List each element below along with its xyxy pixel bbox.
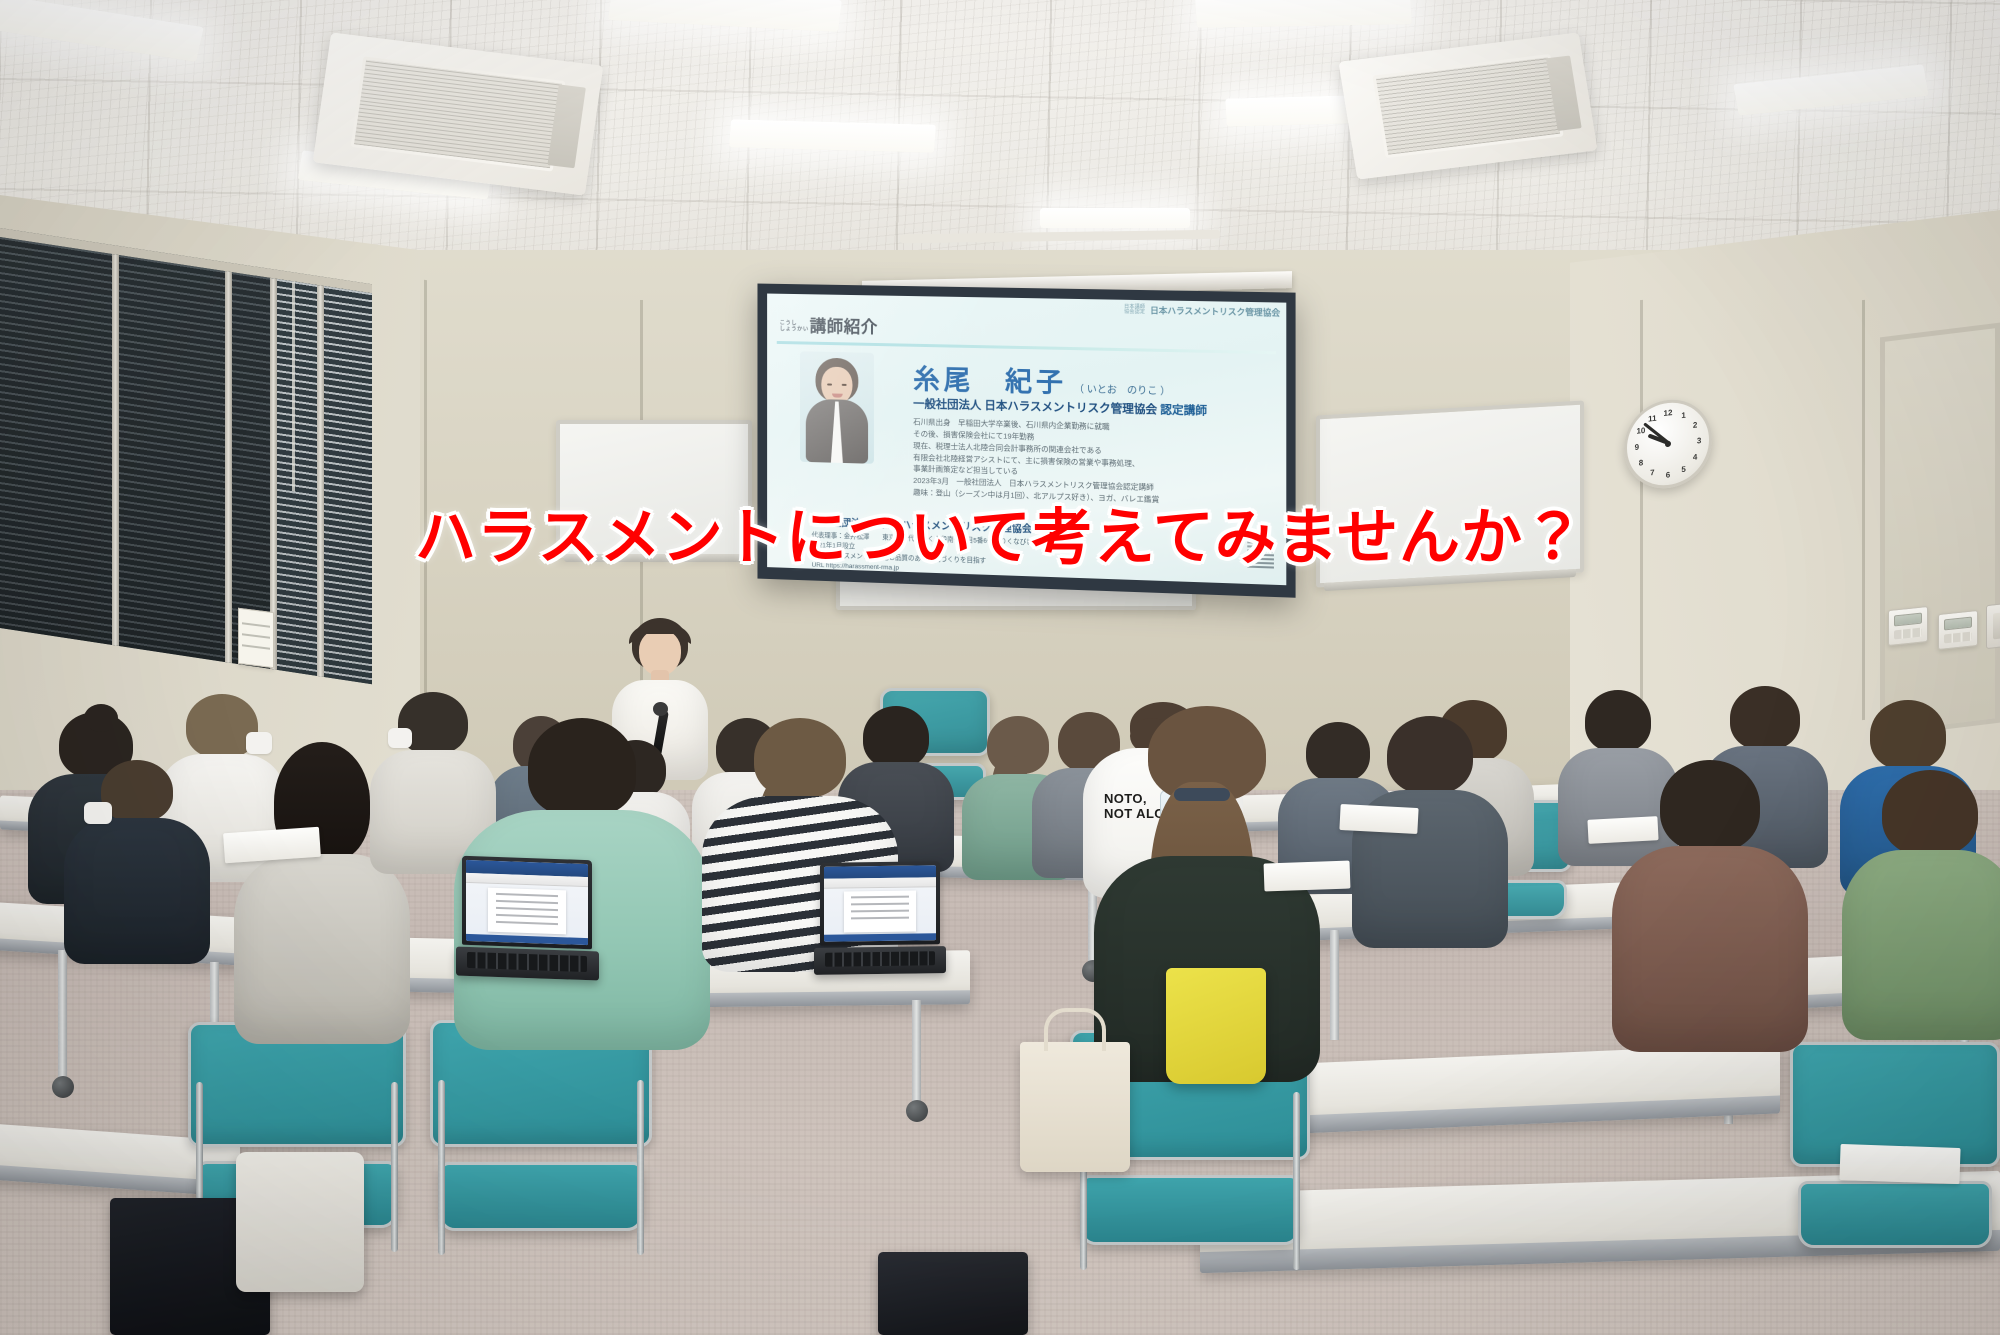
window-blind-lit bbox=[324, 286, 372, 684]
chair-frame-leg bbox=[1293, 1092, 1300, 1270]
left-window-wall bbox=[0, 228, 372, 684]
attendee-hair bbox=[528, 718, 636, 816]
clock-number: 5 bbox=[1681, 465, 1685, 474]
handout-paper[interactable] bbox=[1587, 816, 1658, 844]
handout-paper[interactable] bbox=[1264, 861, 1351, 892]
chair-frame-leg bbox=[391, 1082, 398, 1252]
tote-bag bbox=[1020, 1042, 1130, 1172]
attendee-hair bbox=[1585, 690, 1651, 752]
speaker-portrait bbox=[800, 351, 874, 464]
laptop-ribbon bbox=[824, 877, 936, 888]
attendee-hair bbox=[1882, 770, 1978, 856]
laptop-keyboard[interactable] bbox=[825, 951, 936, 967]
laptop[interactable] bbox=[820, 861, 940, 975]
chair-seat bbox=[1798, 1181, 1991, 1248]
window-mullion bbox=[112, 254, 119, 646]
slide-logo-mark: 日本講師協会認定 bbox=[1124, 305, 1145, 316]
attendee-hair bbox=[1387, 716, 1473, 794]
seminar-room-photo: 12 1 2 3 4 5 6 7 8 9 10 11 日本講師協会認定 日本ハラ… bbox=[0, 0, 2000, 1335]
attendee bbox=[1610, 760, 1810, 1050]
chair-frame-leg bbox=[637, 1080, 644, 1255]
clock-number: 1 bbox=[1681, 411, 1685, 420]
chair bbox=[430, 1020, 652, 1265]
portrait-mouth bbox=[832, 393, 843, 397]
plastic-bag-yellow bbox=[1166, 968, 1266, 1084]
ceiling-light bbox=[1195, 0, 1412, 28]
attendee-hair bbox=[1870, 700, 1946, 770]
attendee-torso bbox=[1842, 850, 2000, 1040]
panel-buttons[interactable] bbox=[1894, 628, 1923, 640]
handbag-black bbox=[878, 1252, 1028, 1335]
slide-title-text: 講師紹介 bbox=[810, 317, 878, 337]
laptop-document bbox=[844, 890, 916, 932]
face-mask bbox=[388, 728, 412, 748]
chair-seat bbox=[439, 1162, 643, 1231]
attendee-hair-bun bbox=[84, 704, 118, 732]
desk-leg bbox=[912, 1000, 921, 1110]
clock-number: 4 bbox=[1693, 452, 1697, 461]
desk-leg bbox=[58, 950, 67, 1080]
handout-paper[interactable] bbox=[1339, 804, 1418, 834]
clock-number: 7 bbox=[1650, 468, 1654, 477]
clock-number: 12 bbox=[1664, 408, 1673, 418]
laptop-statusbar bbox=[824, 933, 936, 941]
ceiling-light bbox=[729, 119, 936, 152]
laptop-keyboard[interactable] bbox=[467, 952, 587, 972]
attendee bbox=[62, 760, 212, 960]
laptop-document bbox=[488, 887, 566, 934]
window-blind bbox=[0, 237, 112, 645]
wall-notice bbox=[238, 608, 274, 668]
laptop-base bbox=[456, 947, 599, 981]
laptop-lid bbox=[820, 861, 940, 946]
speaker-name: 糸尾 紀子 bbox=[913, 358, 1067, 400]
laptop[interactable] bbox=[462, 856, 592, 981]
laptop-base bbox=[814, 946, 946, 975]
ceiling-light bbox=[1040, 208, 1190, 228]
clock-number: 9 bbox=[1635, 443, 1639, 452]
panel-buttons[interactable] bbox=[1944, 632, 1973, 644]
blind-cord bbox=[292, 281, 295, 491]
laptop-screen bbox=[466, 860, 588, 945]
slide-title: こうししょうかい講師紹介 bbox=[780, 311, 878, 338]
backpack bbox=[236, 1152, 364, 1292]
face-mask bbox=[84, 802, 112, 824]
laptop-statusbar bbox=[466, 933, 588, 945]
light-switch[interactable] bbox=[1986, 603, 2000, 649]
clock-center bbox=[1665, 441, 1671, 448]
speaker-name-kana: （ いとお のりこ ） bbox=[1074, 380, 1170, 397]
portrait-eye-left bbox=[827, 383, 832, 385]
attendee-torso bbox=[64, 818, 210, 964]
ac-control-panel[interactable] bbox=[1938, 610, 1978, 650]
handout-paper[interactable] bbox=[1839, 1144, 1960, 1184]
clock-number: 2 bbox=[1693, 421, 1697, 430]
attendee-hair bbox=[1730, 686, 1800, 750]
overlay-caption: ハラスメントについて考えてみませんか？ bbox=[0, 487, 2000, 576]
slide-logo-text: 日本ハラスメントリスク管理協会 bbox=[1150, 304, 1280, 319]
ac-control-panel[interactable] bbox=[1888, 606, 1928, 646]
panel-lcd bbox=[1944, 616, 1973, 631]
attendee-hair bbox=[1660, 760, 1760, 852]
hair-tie bbox=[1174, 788, 1230, 801]
desk-caster bbox=[906, 1100, 928, 1122]
speaker-affiliation: 一般社団法人 日本ハラスメントリスク管理協会 bbox=[913, 398, 1157, 416]
window-blind bbox=[119, 255, 225, 662]
speaker-certification: 認定講師 bbox=[1160, 404, 1207, 417]
attendee-torso bbox=[234, 854, 410, 1044]
attendee-torso bbox=[1612, 846, 1808, 1052]
chair-frame-leg bbox=[438, 1080, 445, 1255]
desk-caster bbox=[52, 1076, 74, 1098]
clock-number: 6 bbox=[1666, 470, 1670, 479]
laptop-screen bbox=[824, 865, 936, 941]
window-mullion bbox=[225, 271, 232, 663]
slide-logo: 日本講師協会認定 日本ハラスメントリスク管理協会 bbox=[1124, 304, 1280, 319]
window-mullion bbox=[317, 285, 324, 677]
window-blind-lit bbox=[277, 279, 317, 676]
chair-seat bbox=[1080, 1175, 1301, 1245]
laptop-lid bbox=[462, 856, 592, 949]
clock-number: 11 bbox=[1648, 414, 1656, 424]
desk-leg bbox=[1330, 930, 1339, 1040]
microphone-head bbox=[653, 702, 668, 716]
portrait-eye-right bbox=[842, 384, 847, 386]
panel-lcd bbox=[1894, 612, 1923, 627]
attendee bbox=[1840, 770, 2000, 1040]
clock-number: 10 bbox=[1636, 426, 1645, 436]
slide-title-ruby: こうししょうかい bbox=[780, 321, 809, 333]
clock-number: 8 bbox=[1639, 458, 1643, 467]
clock-number: 3 bbox=[1697, 436, 1701, 445]
